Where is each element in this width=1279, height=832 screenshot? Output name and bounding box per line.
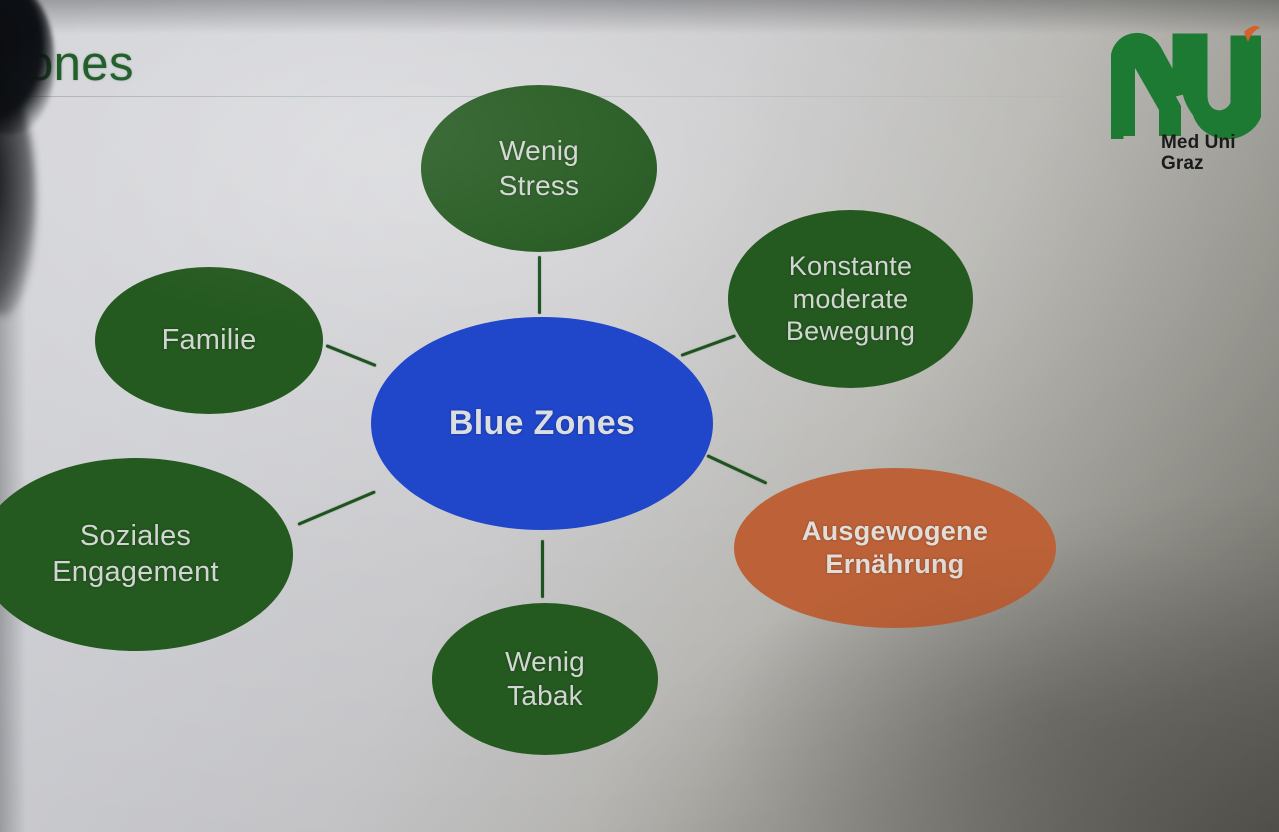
node-wenig-stress-line-2: Stress bbox=[499, 169, 580, 203]
logo-line-2: Graz bbox=[1161, 153, 1236, 174]
node-konstante-moderate-bewegung[interactable]: Konstante moderate Bewegung bbox=[728, 210, 973, 388]
node-ausgewogene-line-1: Ausgewogene bbox=[802, 515, 988, 548]
med-uni-graz-logo: Med Uni Graz bbox=[1111, 24, 1261, 184]
logo-wordmark: Med Uni Graz bbox=[1161, 132, 1236, 175]
node-wenig-tabak-line-2: Tabak bbox=[505, 679, 585, 713]
node-familie-line-1: Familie bbox=[162, 323, 257, 358]
node-wenig-stress-line-1: Wenig bbox=[499, 134, 580, 168]
node-blue-zones-text: Blue Zones bbox=[449, 403, 635, 444]
node-wenig-tabak[interactable]: Wenig Tabak bbox=[432, 603, 658, 755]
mu-monogram-icon bbox=[1111, 24, 1261, 139]
node-ausgewogene-label: Ausgewogene Ernährung bbox=[802, 515, 988, 581]
node-soziales-line-1: Soziales bbox=[52, 519, 218, 554]
node-blue-zones-label: Blue Zones bbox=[449, 403, 635, 444]
node-konstante-line-2: moderate bbox=[786, 283, 915, 316]
logo-line-1: Med Uni bbox=[1161, 132, 1236, 153]
node-soziales-engagement[interactable]: Soziales Engagement bbox=[0, 458, 293, 651]
node-blue-zones-center[interactable]: Blue Zones bbox=[371, 317, 713, 530]
node-ausgewogene-ernaehrung[interactable]: Ausgewogene Ernährung bbox=[734, 468, 1056, 628]
connector-center-to-wenig-stress bbox=[538, 256, 541, 314]
connector-center-to-konstante-bewegung bbox=[680, 334, 736, 357]
node-wenig-stress-label: Wenig Stress bbox=[499, 134, 580, 202]
node-konstante-line-3: Bewegung bbox=[786, 315, 915, 348]
node-konstante-label: Konstante moderate Bewegung bbox=[786, 250, 915, 349]
node-wenig-tabak-label: Wenig Tabak bbox=[505, 645, 585, 713]
node-familie-label: Familie bbox=[162, 323, 257, 358]
node-soziales-label: Soziales Engagement bbox=[52, 519, 218, 590]
node-familie[interactable]: Familie bbox=[95, 267, 323, 414]
node-wenig-tabak-line-1: Wenig bbox=[505, 645, 585, 679]
node-konstante-line-1: Konstante bbox=[786, 250, 915, 283]
node-ausgewogene-line-2: Ernährung bbox=[802, 548, 988, 581]
connector-center-to-soziales-engagement bbox=[297, 490, 375, 526]
node-soziales-line-2: Engagement bbox=[52, 555, 218, 590]
projected-slide: e Zones Med Uni Graz Wenig Stress bbox=[0, 0, 1279, 832]
connector-center-to-wenig-tabak bbox=[541, 540, 544, 598]
blue-zones-diagram: Wenig Stress Konstante moderate Bewegung… bbox=[0, 0, 1279, 832]
connector-center-to-ausgewogene-ernaehrung bbox=[706, 454, 767, 485]
connector-center-to-familie bbox=[325, 344, 376, 367]
node-wenig-stress[interactable]: Wenig Stress bbox=[421, 85, 657, 252]
